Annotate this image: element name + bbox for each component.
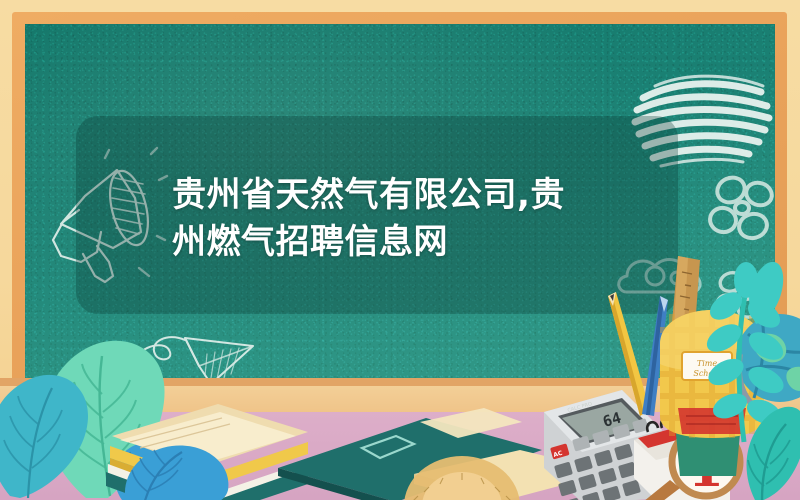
banner-image: 贵州省天然气有限公司,贵 州燃气招聘信息网 [0,0,800,500]
leaf-sprout-right [700,398,800,500]
leaf-blue-lower-left [116,420,266,500]
leaf-small-right-upper [730,256,786,326]
protractor [398,452,528,500]
page-title-line-1: 贵州省天然气有限公司,贵 [172,172,622,219]
flower-chalk-drawing-large [701,166,775,252]
